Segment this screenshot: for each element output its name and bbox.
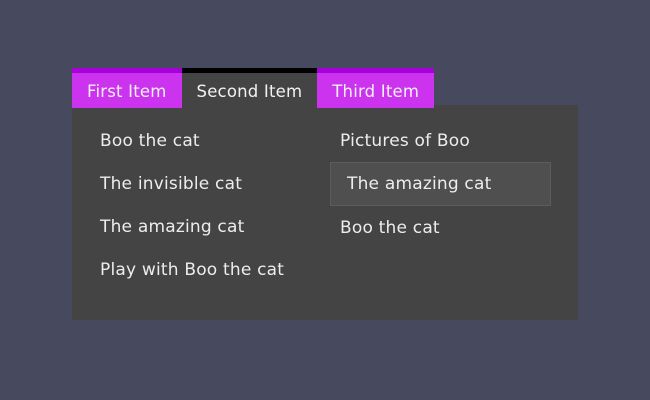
tab-content-panel: Boo the cat The invisible cat The amazin… — [72, 105, 578, 320]
tab-strip: First Item Second Item Third Item — [72, 68, 578, 108]
tab-label: Third Item — [332, 81, 419, 101]
tab-first-item[interactable]: First Item — [72, 68, 182, 108]
list-item-selected[interactable]: The amazing cat — [330, 162, 551, 206]
list-item[interactable]: The invisible cat — [90, 162, 322, 205]
list-item[interactable]: The amazing cat — [90, 205, 322, 248]
tab-widget: Boo the cat The invisible cat The amazin… — [72, 68, 578, 320]
list-item[interactable]: Boo the cat — [330, 206, 578, 249]
list-item[interactable]: Boo the cat — [90, 119, 322, 162]
tab-strip-filler — [434, 68, 578, 108]
list-item-label: Play with Boo the cat — [100, 260, 284, 280]
list-item[interactable]: Play with Boo the cat — [90, 248, 322, 291]
panel-left-column: Boo the cat The invisible cat The amazin… — [72, 105, 322, 320]
panel-right-column: Pictures of Boo The amazing cat Boo the … — [322, 105, 578, 320]
list-item-label: The amazing cat — [100, 217, 244, 237]
list-item-label: Pictures of Boo — [340, 131, 470, 151]
list-item-label: The invisible cat — [100, 174, 242, 194]
list-item-label: Boo the cat — [340, 218, 440, 238]
tab-label: Second Item — [197, 81, 303, 101]
tab-second-item[interactable]: Second Item — [182, 68, 318, 108]
tab-third-item[interactable]: Third Item — [317, 68, 434, 108]
list-item-label: The amazing cat — [347, 174, 491, 194]
list-item-label: Boo the cat — [100, 131, 200, 151]
list-item[interactable]: Pictures of Boo — [330, 119, 578, 162]
tab-label: First Item — [87, 81, 167, 101]
panel-columns: Boo the cat The invisible cat The amazin… — [72, 105, 578, 320]
